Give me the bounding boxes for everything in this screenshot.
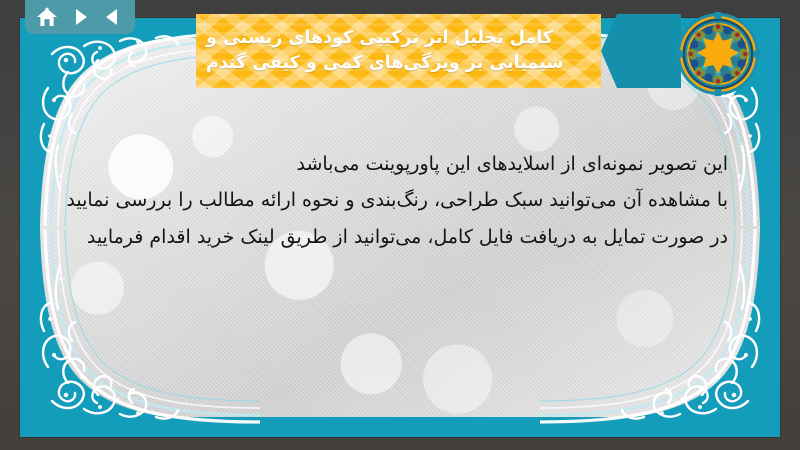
navigation-bar (25, 0, 135, 34)
home-icon (36, 7, 58, 28)
body-line: این تصویر نمونه‌ای از اسلایدهای این پاور… (88, 146, 728, 182)
home-button[interactable] (33, 4, 61, 30)
forward-button[interactable] (66, 4, 94, 30)
slide-title-banner: کامل تحلیل اثر ترکیبی کودهای زیستی و شیم… (196, 14, 681, 88)
forward-triangle-icon (70, 7, 90, 27)
body-line: با مشاهده آن می‌توانید سبک طراحی، رنگ‌بن… (88, 182, 728, 218)
page-title: کامل تحلیل اثر ترکیبی کودهای زیستی و شیم… (196, 14, 601, 88)
back-button[interactable] (99, 4, 127, 30)
title-line: کامل تحلیل اثر ترکیبی کودهای زیستی و (206, 26, 553, 51)
title-line: شیمیایی بر ویژگی‌های کمی و کیفی گندم (206, 51, 563, 76)
slide-body-text: این تصویر نمونه‌ای از اسلایدهای این پاور… (88, 146, 728, 255)
persian-medallion-icon (676, 12, 760, 96)
banner-arrow-shape (601, 14, 681, 88)
back-triangle-icon (103, 7, 123, 27)
body-line: در صورت تمایل به دریافت فایل کامل، می‌تو… (88, 219, 728, 255)
slide-viewer: این تصویر نمونه‌ای از اسلایدهای این پاور… (0, 0, 800, 450)
